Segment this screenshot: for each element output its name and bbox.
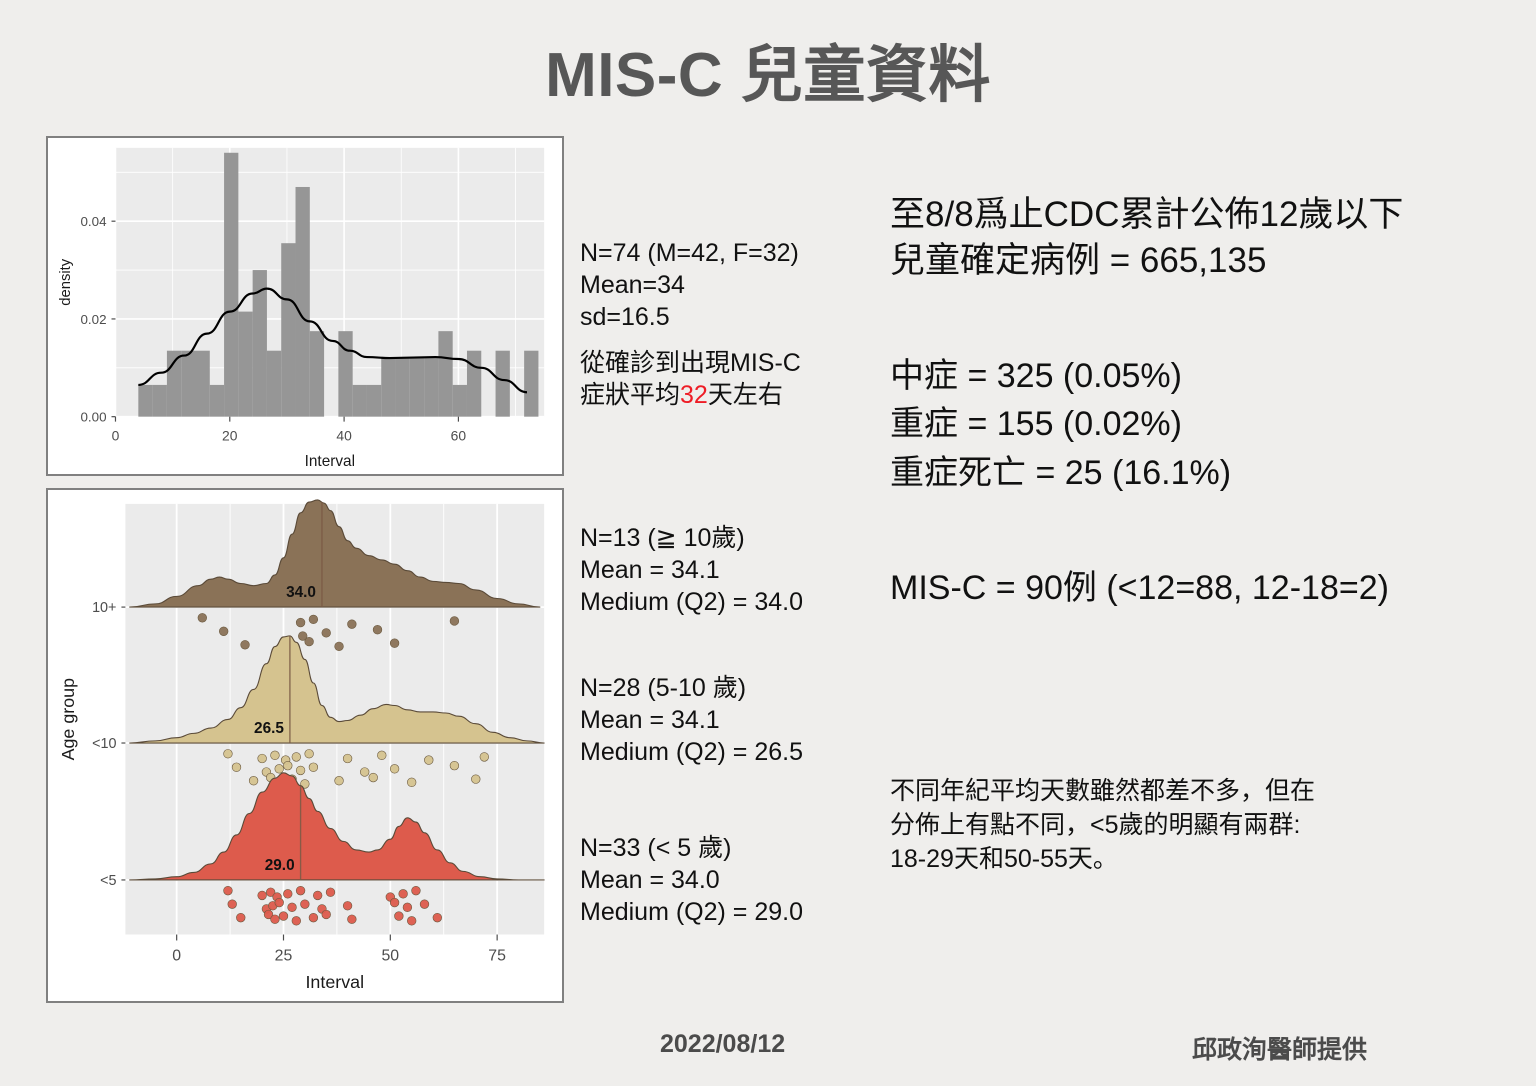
svg-text:Age group: Age group — [58, 678, 78, 760]
svg-text:34.0: 34.0 — [286, 584, 316, 601]
svg-text:29.0: 29.0 — [265, 857, 295, 874]
svg-text:0.02: 0.02 — [80, 312, 106, 327]
svg-text:0: 0 — [112, 427, 120, 443]
page-title: MIS-C 兒童資料 — [0, 24, 1536, 114]
ridgeline-chart-panel: 34.026.529.010+<10<5Age group0255075Inte… — [46, 488, 564, 1003]
histogram-chart-panel: 0.000.020.04density0204060Interval — [46, 136, 564, 476]
severity-stats: 中症 = 325 (0.05%) 重症 = 155 (0.02%) 重症死亡 =… — [890, 352, 1231, 497]
histogram-svg: 0.000.020.04density0204060Interval — [48, 138, 562, 474]
footer-date: 2022/08/12 — [660, 1030, 785, 1059]
ridgeline-svg: 34.026.529.010+<10<5Age group0255075Inte… — [48, 490, 562, 1001]
cdc-headline: 至8/8爲止CDC累計公佈12歲以下 兒童確定病例 = 665,135 — [890, 192, 1403, 284]
svg-text:0.04: 0.04 — [80, 214, 107, 229]
histogram-note-suffix: 天左右 — [708, 381, 783, 409]
histogram-stats-text: N=74 (M=42, F=32) Mean=34 sd=16.5 — [580, 239, 799, 331]
histogram-stats-block: N=74 (M=42, F=32) Mean=34 sd=16.5 從確診到出現… — [580, 205, 801, 443]
group-10plus-stats: N=13 (≧ 10歲) Mean = 34.1 Medium (Q2) = 3… — [580, 522, 803, 618]
svg-text:25: 25 — [275, 947, 293, 964]
group-under10-stats: N=28 (5-10 歲) Mean = 34.1 Medium (Q2) = … — [580, 672, 803, 768]
svg-text:0: 0 — [172, 947, 181, 964]
histogram-note-text: 從確診到出現MIS-C 症狀平均32天左右 — [580, 347, 801, 411]
distribution-note: 不同年紀平均天數雖然都差不多，但在 分佈上有點不同，<5歲的明顯有兩群: 18-… — [890, 775, 1315, 876]
svg-text:75: 75 — [488, 947, 506, 964]
svg-text:Interval: Interval — [305, 972, 364, 992]
histogram-note-number: 32 — [680, 381, 708, 409]
svg-text:26.5: 26.5 — [254, 720, 284, 737]
svg-text:40: 40 — [336, 427, 352, 443]
misc-case-count: MIS-C = 90例 (<12=88, 12-18=2) — [890, 560, 1389, 609]
footer-credit: 邱政洵醫師提供 — [1192, 1030, 1367, 1066]
svg-text:50: 50 — [381, 947, 399, 964]
svg-text:10+: 10+ — [92, 600, 116, 616]
svg-text:<10: <10 — [92, 736, 116, 752]
svg-text:<5: <5 — [100, 873, 116, 889]
svg-text:0.00: 0.00 — [80, 410, 106, 425]
svg-text:20: 20 — [222, 427, 238, 443]
group-under5-stats: N=33 (< 5 歲) Mean = 34.0 Medium (Q2) = 2… — [580, 832, 803, 928]
svg-text:60: 60 — [451, 427, 467, 443]
svg-text:Interval: Interval — [305, 453, 355, 470]
svg-text:density: density — [58, 258, 74, 306]
